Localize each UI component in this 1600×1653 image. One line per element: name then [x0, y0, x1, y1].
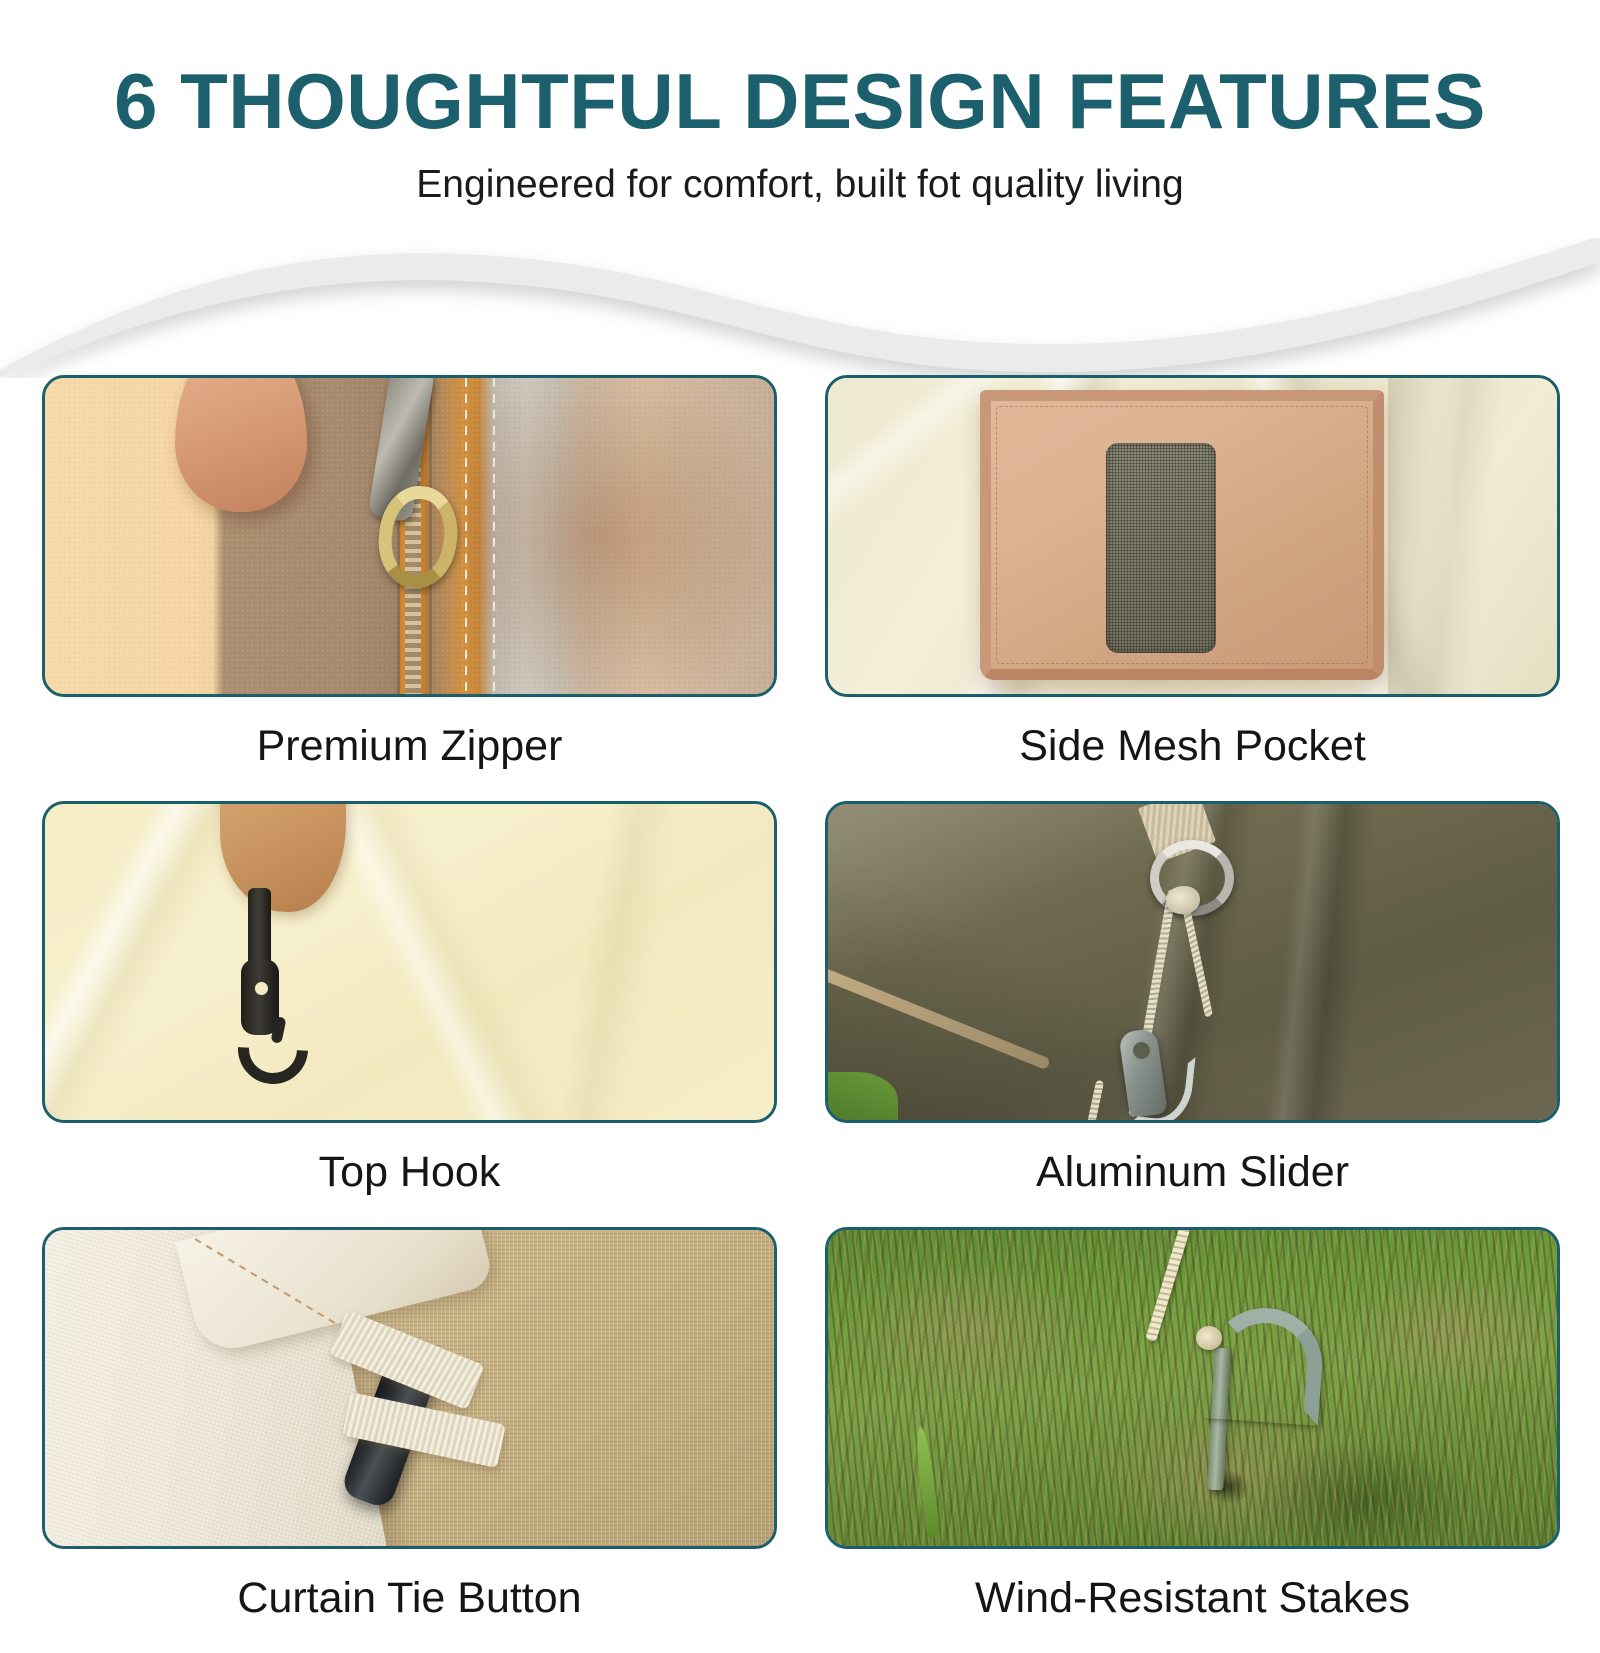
mesh-pocket-photo	[828, 378, 1557, 694]
page-title: 6 THOUGHTFUL DESIGN FEATURES	[0, 0, 1600, 142]
stitch-line-2	[493, 378, 495, 694]
grass-blade-texture	[828, 1230, 1557, 1546]
fabric-shadow	[468, 375, 777, 697]
feature-item-aluminum-slider: Aluminum Slider	[825, 801, 1560, 1227]
hook-hole	[255, 982, 268, 995]
feature-image-card-side-mesh-pocket[interactable]	[825, 375, 1560, 697]
feature-image-card-aluminum-slider[interactable]	[825, 801, 1560, 1123]
mesh-panel	[1106, 443, 1216, 653]
fabric-wrinkles	[45, 804, 774, 1120]
feature-item-premium-zipper: Premium Zipper	[42, 375, 777, 801]
feature-label-aluminum-slider: Aluminum Slider	[825, 1123, 1560, 1227]
feature-item-curtain-tie-button: Curtain Tie Button	[42, 1227, 777, 1653]
feature-image-card-wind-resistant-stakes[interactable]	[825, 1227, 1560, 1549]
feature-image-card-premium-zipper[interactable]	[42, 375, 777, 697]
feature-item-wind-resistant-stakes: Wind-Resistant Stakes	[825, 1227, 1560, 1653]
finger	[175, 375, 307, 512]
feature-label-side-mesh-pocket: Side Mesh Pocket	[825, 697, 1560, 801]
feature-label-wind-resistant-stakes: Wind-Resistant Stakes	[825, 1549, 1560, 1653]
wave-band	[0, 238, 1600, 378]
aluminum-slider-photo	[828, 804, 1557, 1120]
feature-label-curtain-tie-button: Curtain Tie Button	[42, 1549, 777, 1653]
feature-item-side-mesh-pocket: Side Mesh Pocket	[825, 375, 1560, 801]
feature-label-premium-zipper: Premium Zipper	[42, 697, 777, 801]
zipper-photo	[45, 378, 774, 694]
stitch-line-1	[465, 378, 467, 694]
feature-label-top-hook: Top Hook	[42, 1123, 777, 1227]
feature-image-card-curtain-tie-button[interactable]	[42, 1227, 777, 1549]
fabric-fold-shadow	[1388, 378, 1448, 694]
feature-grid: Premium Zipper Side Mesh Pocket	[42, 375, 1560, 1653]
top-hook-photo	[45, 804, 774, 1120]
pocket-panel	[980, 390, 1384, 680]
page-subtitle: Engineered for comfort, built fot qualit…	[0, 142, 1600, 207]
header: 6 THOUGHTFUL DESIGN FEATURES Engineered …	[0, 0, 1600, 250]
rope-knot	[1166, 886, 1200, 914]
stake-in-grass-photo	[828, 1230, 1557, 1546]
feature-item-top-hook: Top Hook	[42, 801, 777, 1227]
curtain-tie-photo	[45, 1230, 774, 1546]
wave-divider-decoration	[0, 238, 1600, 378]
rope-loop-on-stake	[1196, 1326, 1222, 1350]
feature-image-card-top-hook[interactable]	[42, 801, 777, 1123]
